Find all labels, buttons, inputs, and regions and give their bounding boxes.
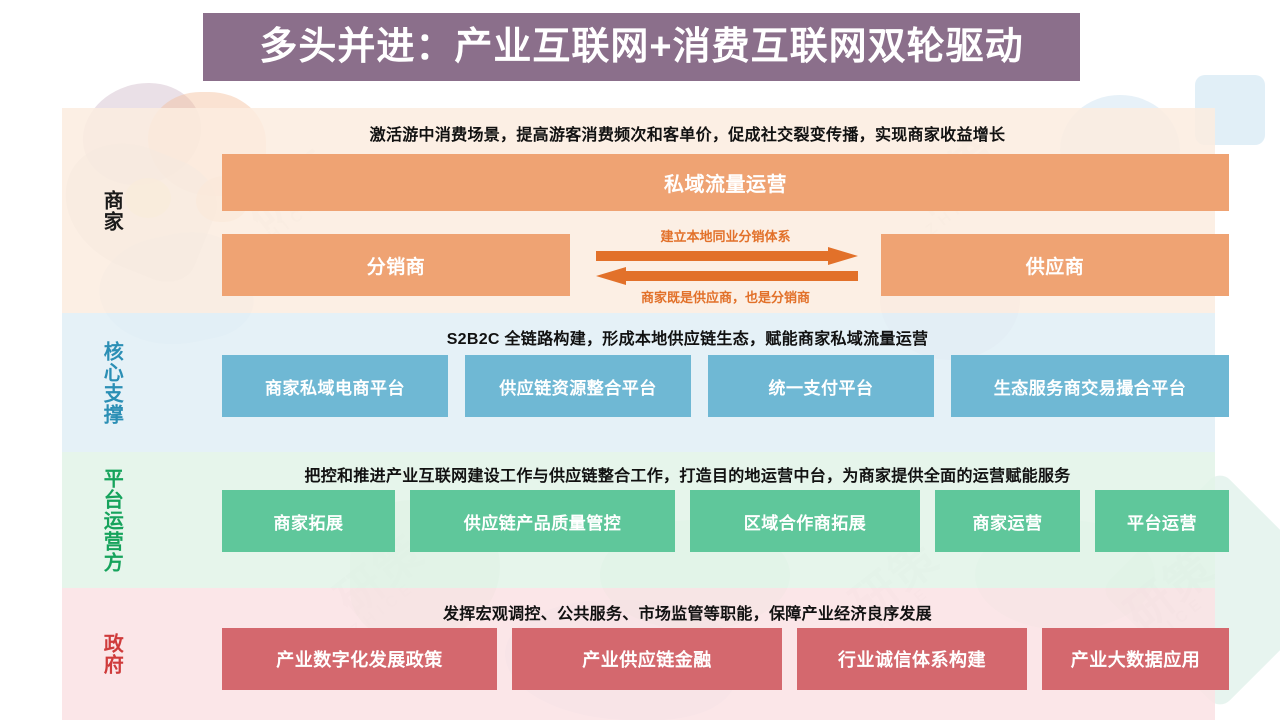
card-supplier[interactable]: 供应商 [881,234,1229,296]
arrow-label-merchant-is-both: 商家既是供应商，也是分销商 [570,287,881,306]
card-government-1[interactable]: 产业供应链金融 [512,628,782,690]
card-government-2[interactable]: 行业诚信体系构建 [797,628,1027,690]
slide-title-bar: 多头并进：产业互联网+消费互联网双轮驱动 [203,13,1080,81]
section-government: 政府 发挥宏观调控、公共服务、市场监管等职能，保障产业经济良序发展 产业数字化发… [62,588,1215,720]
headline-merchant: 激活游中消费场景，提高游客消费频次和客单价，促成社交裂变传播，实现商家收益增长 [160,121,1215,145]
section-body-platform-operator: 把控和推进产业互联网建设工作与供应链整合工作，打造目的地运营中台，为商家提供全面… [160,452,1215,588]
section-platform-operator: 平台运营方 把控和推进产业互联网建设工作与供应链整合工作，打造目的地运营中台，为… [62,452,1215,588]
card-government-0[interactable]: 产业数字化发展政策 [222,628,497,690]
section-label-government: 政府 [62,588,160,720]
arrow-label-build-local-distribution: 建立本地同业分销体系 [570,226,881,245]
card-core-support-0[interactable]: 商家私域电商平台 [222,355,448,417]
section-label-merchant: 商家 [62,108,160,313]
card-distributor[interactable]: 分销商 [222,234,570,296]
section-merchant: 商家 激活游中消费场景，提高游客消费频次和客单价，促成社交裂变传播，实现商家收益… [62,108,1215,313]
card-core-support-2[interactable]: 统一支付平台 [708,355,934,417]
card-government-3[interactable]: 产业大数据应用 [1042,628,1229,690]
card-private-traffic-operation[interactable]: 私域流量运营 [222,154,1229,211]
card-platform-3[interactable]: 商家运营 [935,490,1080,552]
section-body-merchant: 激活游中消费场景，提高游客消费频次和客单价，促成社交裂变传播，实现商家收益增长 … [160,108,1215,313]
double-arrow-icon [596,247,858,285]
section-core-support: 核心支撑 S2B2C 全链路构建，形成本地供应链生态，赋能商家私域流量运营 商家… [62,313,1215,452]
card-core-support-3[interactable]: 生态服务商交易撮合平台 [951,355,1229,417]
section-body-government: 发挥宏观调控、公共服务、市场监管等职能，保障产业经济良序发展 产业数字化发展政策… [160,588,1215,720]
slide-title: 多头并进：产业互联网+消费互联网双轮驱动 [259,28,1023,66]
headline-core-support: S2B2C 全链路构建，形成本地供应链生态，赋能商家私域流量运营 [160,325,1215,349]
headline-platform-operator: 把控和推进产业互联网建设工作与供应链整合工作，打造目的地运营中台，为商家提供全面… [160,462,1215,486]
section-label-core-support: 核心支撑 [62,313,160,452]
card-platform-4[interactable]: 平台运营 [1095,490,1229,552]
card-core-support-1[interactable]: 供应链资源整合平台 [465,355,691,417]
card-platform-0[interactable]: 商家拓展 [222,490,395,552]
section-body-core-support: S2B2C 全链路构建，形成本地供应链生态，赋能商家私域流量运营 商家私域电商平… [160,313,1215,452]
headline-government: 发挥宏观调控、公共服务、市场监管等职能，保障产业经济良序发展 [160,600,1215,624]
section-label-platform-operator: 平台运营方 [62,452,160,588]
arrow-group-distribution: 建立本地同业分销体系 商家既是供应商，也是分销商 [570,226,881,304]
card-platform-1[interactable]: 供应链产品质量管控 [410,490,675,552]
card-platform-2[interactable]: 区域合作商拓展 [690,490,920,552]
